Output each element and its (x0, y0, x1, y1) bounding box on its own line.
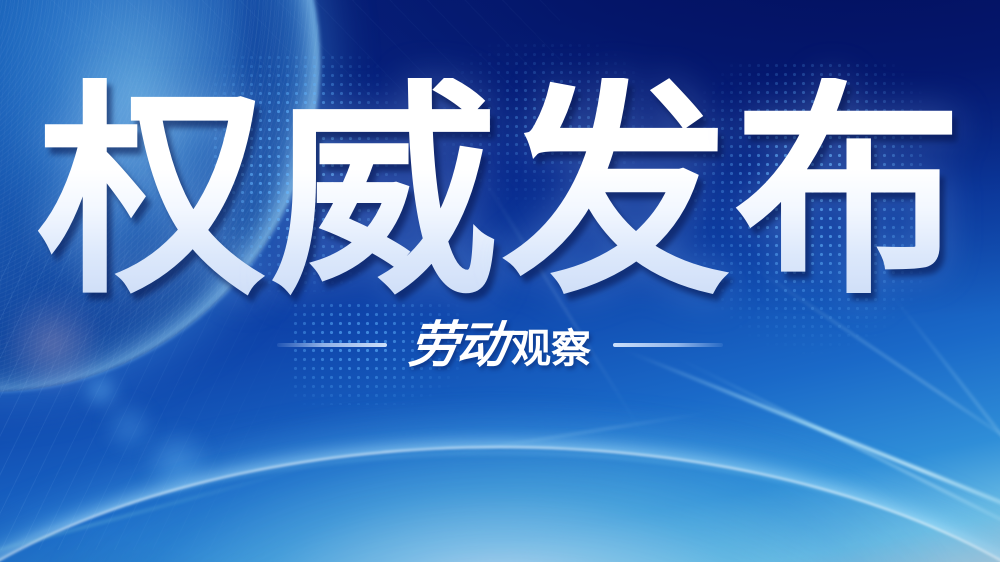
authoritative-release-banner: 权 威 发 布 劳动 观察 (0, 0, 1000, 562)
title-char-4: 布 (732, 78, 964, 306)
title-char-1: 权 (36, 78, 268, 306)
brand-regular-text: 观察 (511, 329, 591, 369)
title-char-3: 发 (500, 78, 732, 306)
page-title: 权 威 发 布 (36, 78, 964, 306)
banner-content: 权 威 发 布 劳动 观察 (0, 0, 1000, 562)
divider-line-right (613, 343, 723, 347)
brand-script-text: 劳动 (406, 320, 507, 370)
brand-row: 劳动 观察 (277, 320, 723, 370)
divider-line-left (277, 343, 387, 347)
title-char-2: 威 (268, 78, 500, 306)
brand-logo: 劳动 观察 (409, 320, 591, 370)
